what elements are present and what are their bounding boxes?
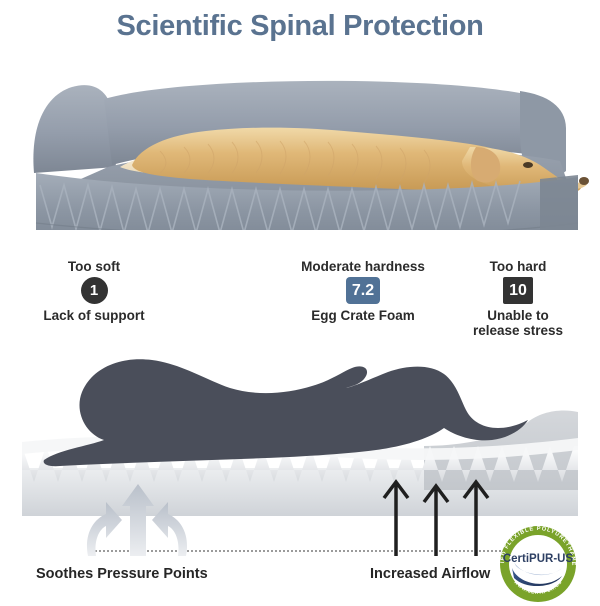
scale-marker-wrap: 10 [452, 277, 584, 305]
badge-brand-text: CertiPUR-US [503, 553, 574, 565]
page-title: Scientific Spinal Protection [116, 10, 483, 43]
dog-eye [523, 162, 533, 168]
scale-stop-top-label: Moderate hardness [288, 259, 438, 275]
scale-stop-moderate: Moderate hardness 7.2 Egg Crate Foam [288, 259, 438, 323]
scale-stop-bottom-label: Egg Crate Foam [288, 308, 438, 324]
dog-bed-photo-illustration [0, 55, 600, 230]
caption-increased-airflow: Increased Airflow [370, 566, 490, 582]
bed-right-side-panel [540, 175, 578, 230]
scale-stop-top-label: Too hard [452, 259, 584, 275]
scale-stop-too-hard: Too hard 10 Unable to release stress [452, 259, 584, 339]
product-photo [0, 55, 600, 230]
scale-marker-10: 10 [503, 277, 533, 304]
scale-stop-bottom-label-line2: release stress [452, 323, 584, 339]
page-title-bar: Scientific Spinal Protection [0, 0, 600, 52]
scale-marker-1: 1 [81, 277, 108, 304]
certipur-us-badge: CERTIFIED FLEXIBLE POLYURETHANE FOAM WWW… [492, 518, 584, 606]
scale-marker-wrap: 1 [14, 277, 174, 305]
hardness-scale: Too soft 1 Lack of support Moderate hard… [0, 255, 600, 345]
scale-stop-bottom-label: Lack of support [14, 308, 174, 324]
scale-marker-72: 7.2 [346, 277, 380, 304]
caption-soothes-pressure-points: Soothes Pressure Points [36, 566, 208, 582]
infographic-page: Scientific Spinal Protection [0, 0, 600, 606]
certipur-us-seal: CERTIFIED FLEXIBLE POLYURETHANE FOAM WWW… [492, 518, 584, 606]
scale-stop-too-soft: Too soft 1 Lack of support [14, 259, 174, 323]
scale-stop-top-label: Too soft [14, 259, 174, 275]
bed-left-bolster [33, 85, 116, 173]
dog-nose [579, 177, 589, 185]
scale-stop-bottom-label-line1: Unable to [452, 308, 584, 324]
scale-marker-wrap: 7.2 [288, 277, 438, 305]
